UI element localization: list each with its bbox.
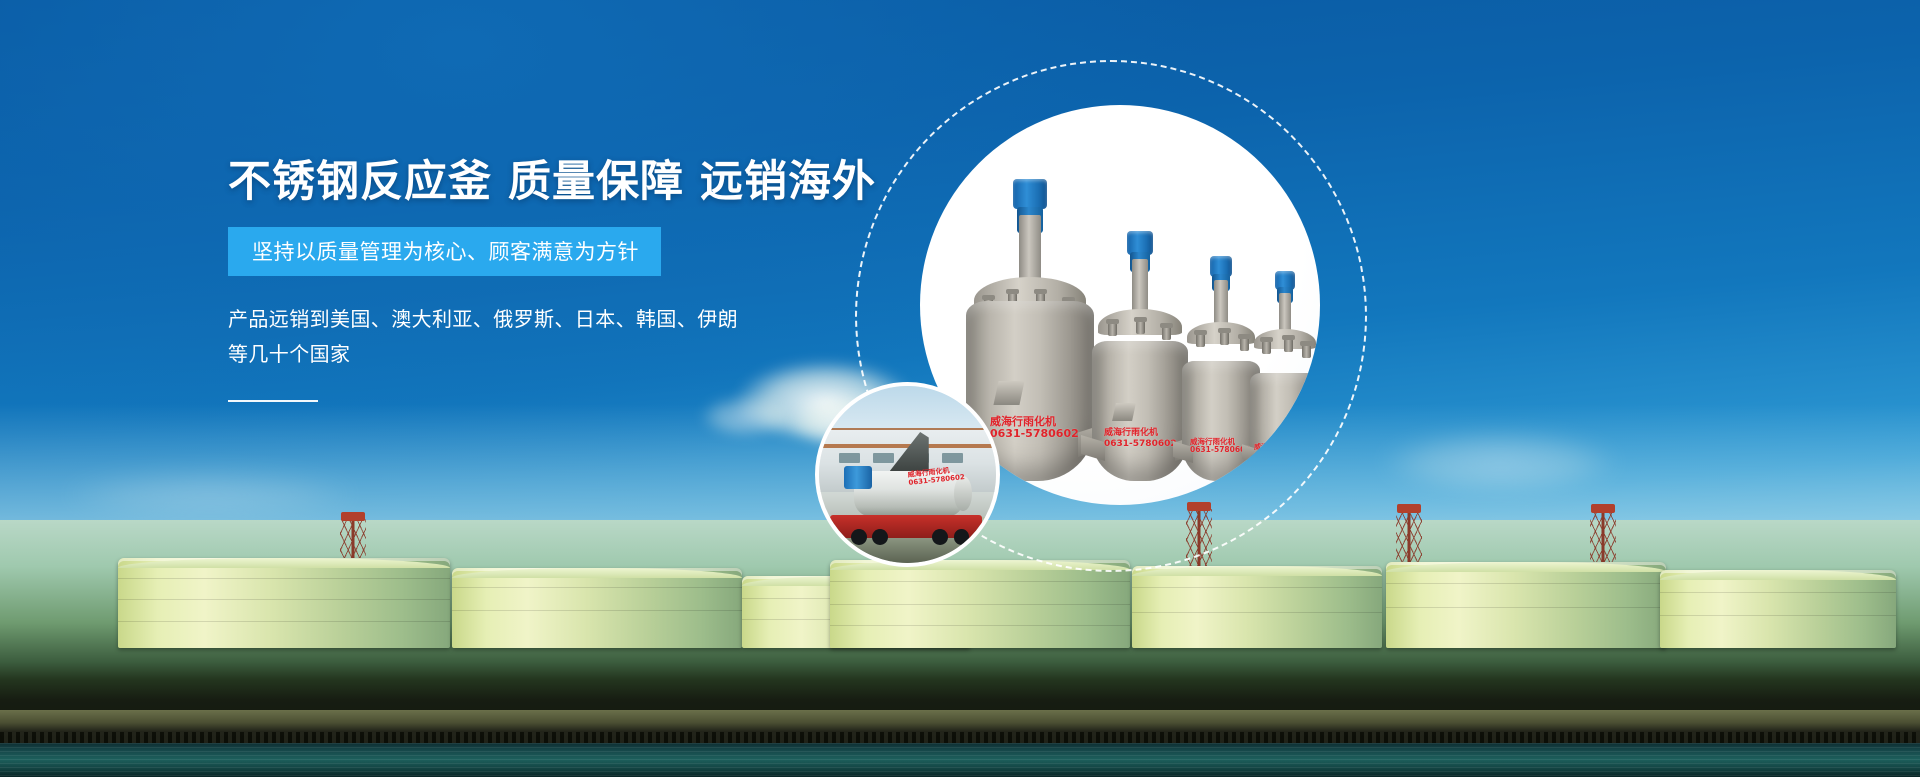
banner-headline: 不锈钢反应釜 质量保障 远销海外 — [228, 160, 848, 205]
banner-subtitle: 坚持以质量管理为核心、顾客满意为方针 — [252, 236, 639, 266]
banner-description: 产品远销到美国、澳大利亚、俄罗斯、日本、韩国、伊朗 等几十个国家 — [228, 302, 748, 372]
vessel-brand-text: 威海行雨化机 0631-5780602 — [1104, 428, 1177, 449]
vessel-bracket — [993, 381, 1024, 405]
storage-tank — [118, 558, 450, 648]
banner-description-line2: 等几十个国家 — [228, 342, 350, 366]
hero-banner: 威海行雨化机 0631-5780602 威海行雨化机 0631-5780602 — [0, 0, 1920, 777]
factory-window — [839, 453, 860, 463]
truck-wheel-icon — [851, 529, 867, 545]
nozzle-icon — [1284, 339, 1293, 352]
storage-tank — [452, 568, 742, 648]
factory-roofline — [815, 444, 1000, 448]
vessel-brand-text: 威海行雨化机 0631-5780602 — [1190, 438, 1251, 455]
nozzle-icon — [1302, 345, 1311, 358]
nozzle-icon — [1220, 332, 1229, 345]
banner-subtitle-badge: 坚持以质量管理为核心、顾客满意为方针 — [228, 227, 661, 276]
vessel-body — [1250, 373, 1320, 481]
vessel-body — [1092, 341, 1188, 481]
motor-icon — [1013, 179, 1047, 209]
banner-description-line1: 产品远销到美国、澳大利亚、俄罗斯、日本、韩国、伊朗 — [228, 307, 738, 331]
motor-icon — [844, 466, 872, 489]
divider-rule — [228, 400, 318, 402]
cloud-icon — [60, 470, 360, 516]
nozzle-icon — [1108, 323, 1117, 336]
vessel-brand-text: 威海行雨化机 0631-5780602 — [1254, 443, 1310, 459]
nozzle-icon — [1136, 321, 1145, 334]
factory-window — [942, 453, 963, 463]
cloud-icon — [1380, 430, 1620, 490]
reactor-vessel: 威海行雨化机 0631-5780602 — [1250, 271, 1320, 481]
factory-photo-circle: 威海行雨化机 0631-5780602 — [815, 382, 1000, 567]
water-surface — [0, 743, 1920, 777]
factory-window — [873, 453, 894, 463]
vessel-brand-text: 威海行雨化机 0631-5780602 — [990, 416, 1079, 441]
storage-tank — [1660, 570, 1896, 648]
nozzle-icon — [1196, 334, 1205, 347]
nozzle-icon — [1240, 338, 1249, 351]
nozzle-icon — [1262, 341, 1271, 354]
banner-copy: 不锈钢反应釜 质量保障 远销海外 坚持以质量管理为核心、顾客满意为方针 产品远销… — [228, 160, 848, 402]
vessel-bracket — [1112, 403, 1136, 421]
quay-wall — [0, 710, 1920, 744]
vessel-body — [1182, 361, 1260, 481]
storage-tank — [1386, 562, 1666, 648]
storage-tank — [1132, 566, 1382, 648]
nozzle-icon — [1162, 327, 1171, 340]
storage-tank — [830, 560, 1130, 648]
